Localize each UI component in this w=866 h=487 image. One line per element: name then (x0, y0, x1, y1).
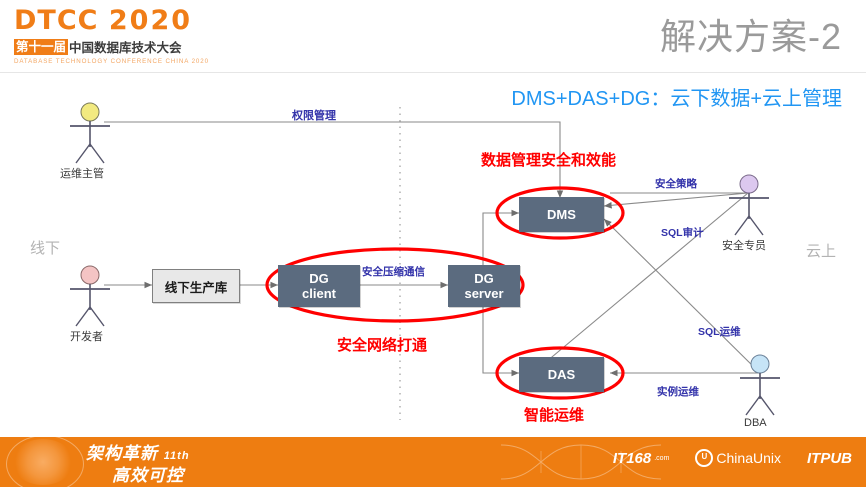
page-title: 解决方案-2 (660, 8, 842, 60)
node-dg-server-line1: DG (474, 271, 494, 286)
logo-main-text: DTCC (14, 5, 98, 36)
architecture-diagram: 运维主管 开发者 安全专员 DBA 线下 云上 线下生产库 DG client … (0, 95, 866, 435)
annotation-secure-network: 安全网络打通 (337, 334, 427, 355)
logo-edition-chip: 第十一届 (14, 39, 68, 55)
footer-orb-ring-decoration (6, 437, 84, 487)
logo-subtitle: 第十一届 中国数据库技术大会 (14, 37, 254, 56)
edge-label-sql-audit: SQL审计 (661, 225, 704, 240)
node-dms[interactable]: DMS (519, 197, 604, 232)
zone-label-cloud: 云上 (806, 240, 836, 261)
edge-label-secure-comm: 安全压缩通信 (362, 264, 425, 279)
footer-logo-it168: IT168 .com (613, 450, 670, 467)
edge-label-instance-ops: 实例运维 (657, 384, 699, 399)
footer-logo-itpub: ITPUB (807, 450, 852, 467)
edge-label-auth: 权限管理 (292, 107, 336, 123)
footer-slogan-line2: 高效可控 (86, 466, 190, 486)
node-dg-client-line2: client (302, 286, 336, 301)
footer-slogan-th: th (177, 450, 189, 462)
chinaunix-mark-icon: U (695, 449, 713, 467)
footer-logo-itpub-name: ITPUB (807, 450, 852, 467)
footer-partner-logos: IT168 .com U ChinaUnix ITPUB (613, 449, 852, 467)
footer-slogan: 架构革新 11th 高效可控 (86, 444, 190, 486)
node-dg-server-line2: server (464, 286, 503, 301)
node-prod-db-label: 线下生产库 (165, 277, 228, 296)
logo-wordmark: DTCC 2020 (14, 6, 254, 36)
footer-logo-chinaunix-name: ChinaUnix (716, 450, 781, 466)
node-dg-server[interactable]: DG server (448, 265, 520, 307)
actor-label-developer: 开发者 (70, 328, 103, 344)
footer-bar: 架构革新 11th 高效可控 IT168 .com U ChinaUnix IT… (0, 437, 866, 487)
diagram-connectors (0, 95, 866, 435)
dtcc-logo: DTCC 2020 第十一届 中国数据库技术大会 DATABASE TECHNO… (14, 6, 254, 64)
edge-label-security-policy: 安全策略 (655, 176, 697, 191)
actor-label-security-officer: 安全专员 (722, 237, 766, 253)
node-das-label: DAS (548, 367, 575, 382)
node-dg-client[interactable]: DG client (278, 265, 360, 307)
logo-english-name: DATABASE TECHNOLOGY CONFERENCE CHINA 202… (14, 58, 254, 65)
annotation-smart-ops: 智能运维 (524, 404, 584, 425)
node-das[interactable]: DAS (519, 357, 604, 392)
node-dg-client-line1: DG (309, 271, 329, 286)
footer-logo-chinaunix: U ChinaUnix (695, 449, 781, 467)
actor-figure-ops-supervisor (70, 103, 110, 163)
header-divider (0, 72, 866, 73)
actor-label-dba: DBA (744, 417, 767, 429)
annotation-data-management: 数据管理安全和效能 (481, 149, 616, 170)
logo-year-text: 2020 (109, 5, 192, 36)
actor-label-ops-supervisor: 运维主管 (60, 165, 104, 181)
actor-figure-developer (70, 266, 110, 326)
logo-conference-name: 中国数据库技术大会 (69, 37, 182, 56)
node-dms-label: DMS (547, 207, 576, 222)
node-prod-db[interactable]: 线下生产库 (152, 269, 240, 303)
actor-figure-security-officer (729, 175, 769, 235)
footer-slogan-line1: 架构革新 (86, 444, 158, 463)
zone-label-offline: 线下 (30, 237, 60, 258)
actor-figure-dba (740, 355, 780, 415)
slide: DTCC 2020 第十一届 中国数据库技术大会 DATABASE TECHNO… (0, 0, 866, 487)
footer-logo-it168-name: IT168 (613, 450, 651, 467)
footer-slogan-number: 11 (164, 450, 177, 462)
edge-label-sql-ops: SQL运维 (698, 324, 741, 339)
edge-security-policy (604, 193, 748, 206)
footer-logo-it168-suffix: .com (654, 455, 669, 462)
